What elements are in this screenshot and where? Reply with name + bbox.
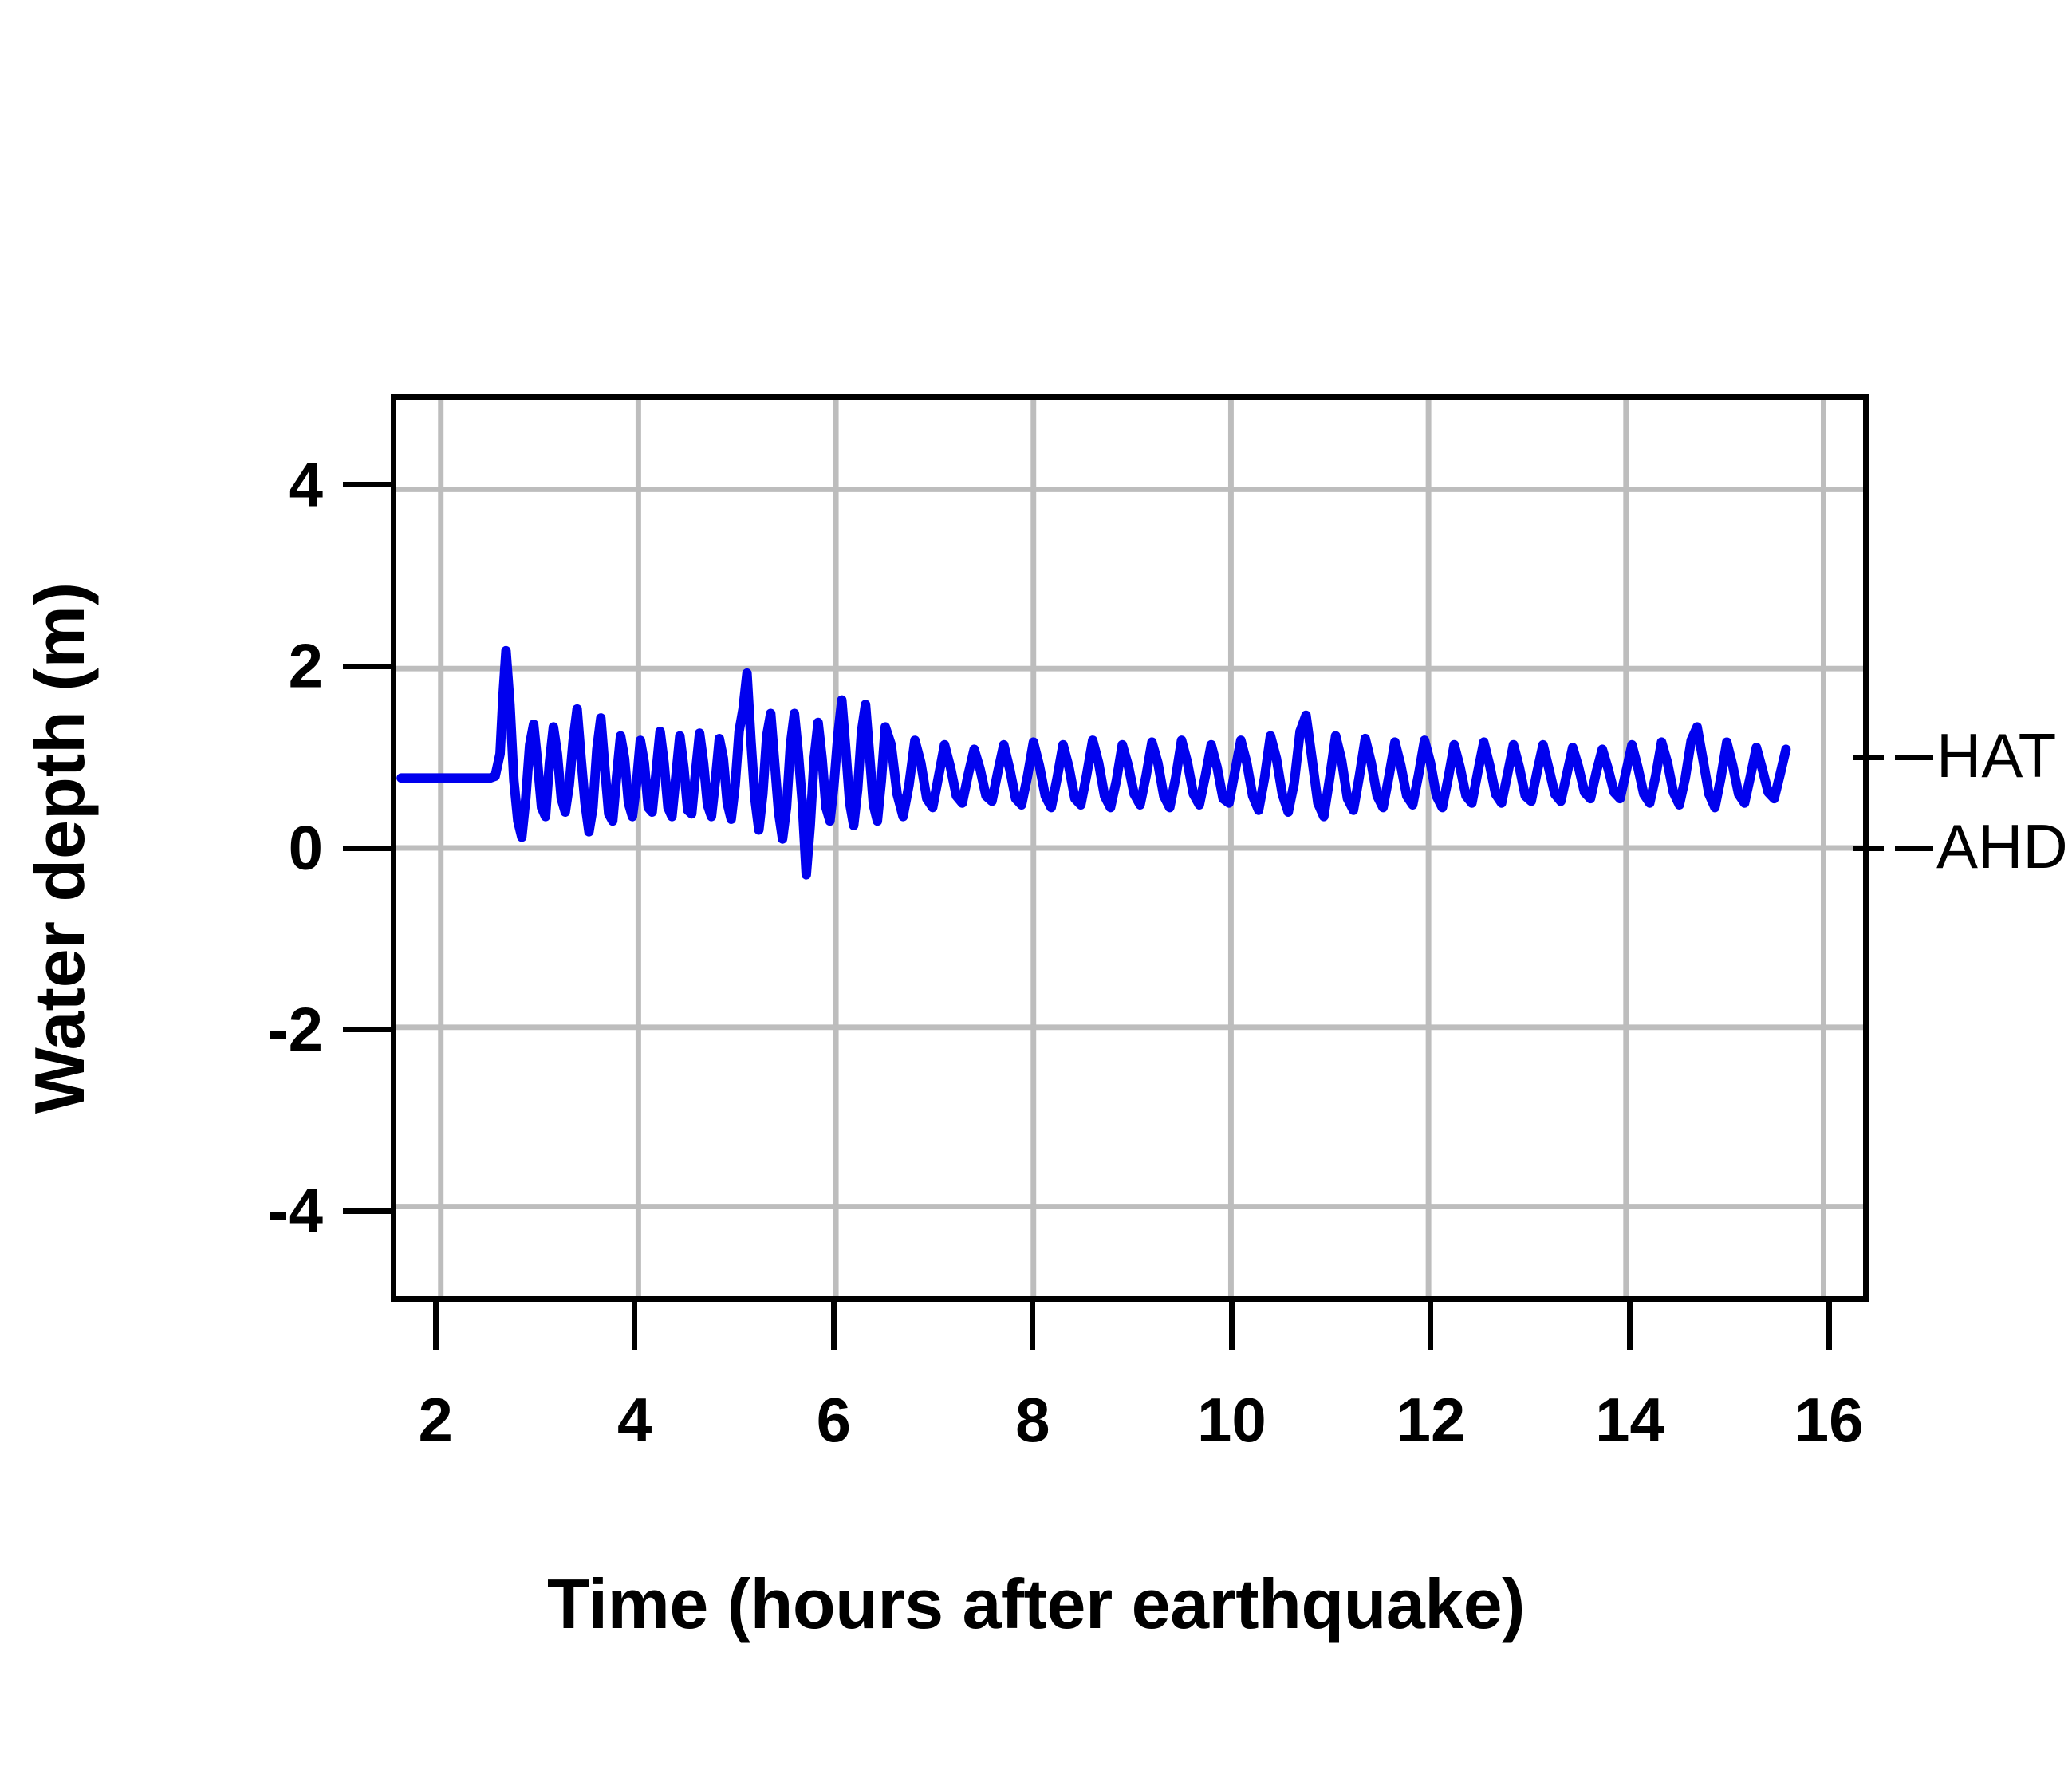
- y-axis-tick: [343, 482, 391, 487]
- y-axis-tick-label: -2: [171, 993, 323, 1066]
- y-axis-tick-label: 4: [171, 448, 323, 521]
- series-line-water-depth: [401, 651, 1786, 875]
- datum-label: HAT: [1936, 731, 2056, 780]
- x-axis-tick: [1826, 1302, 1832, 1350]
- x-axis-tick: [831, 1302, 837, 1350]
- figure-canvas: Water depth (m) 420-2-4 246810121416 HAT…: [0, 0, 2072, 1790]
- y-axis-title-container: Water depth (m): [0, 394, 120, 1302]
- datum-label: AHD: [1936, 822, 2068, 871]
- x-axis-tick: [1229, 1302, 1235, 1350]
- datum-tick-mark: [1853, 846, 1884, 851]
- x-axis-tick-label: 14: [1595, 1384, 1664, 1457]
- x-axis-tick-label: 8: [1015, 1384, 1050, 1457]
- plot-area: [391, 394, 1869, 1302]
- x-axis-tick-label: 2: [418, 1384, 452, 1457]
- x-axis-tick: [1428, 1302, 1433, 1350]
- x-axis-tick: [632, 1302, 637, 1350]
- y-axis-tick: [343, 1027, 391, 1032]
- water-depth-series: [396, 400, 1863, 1296]
- x-axis-tick: [433, 1302, 439, 1350]
- y-axis-title: Water depth (m): [19, 582, 100, 1114]
- x-axis-tick-label: 10: [1197, 1384, 1266, 1457]
- y-axis-tick: [343, 664, 391, 669]
- datum-dash-gap: [1884, 846, 1895, 851]
- x-axis-tick-label: 4: [617, 1384, 652, 1457]
- y-axis-tick-label: 2: [171, 630, 323, 703]
- y-axis-tick: [343, 1208, 391, 1214]
- x-axis-tick-label: 12: [1396, 1384, 1466, 1457]
- x-axis-tick: [1627, 1302, 1633, 1350]
- datum-dash-gap: [1884, 755, 1895, 760]
- datum-dash: [1895, 755, 1933, 760]
- y-axis-tick-label: -4: [171, 1175, 323, 1248]
- x-axis-tick: [1030, 1302, 1035, 1350]
- x-axis-title: Time (hours after earthquake): [0, 1563, 2072, 1645]
- datum-dash: [1895, 846, 1933, 851]
- datum-tick-mark: [1853, 755, 1884, 760]
- y-axis-tick-label: 0: [171, 812, 323, 885]
- y-axis-tick: [343, 846, 391, 851]
- x-axis-tick-label: 6: [817, 1384, 851, 1457]
- x-axis-tick-label: 16: [1794, 1384, 1864, 1457]
